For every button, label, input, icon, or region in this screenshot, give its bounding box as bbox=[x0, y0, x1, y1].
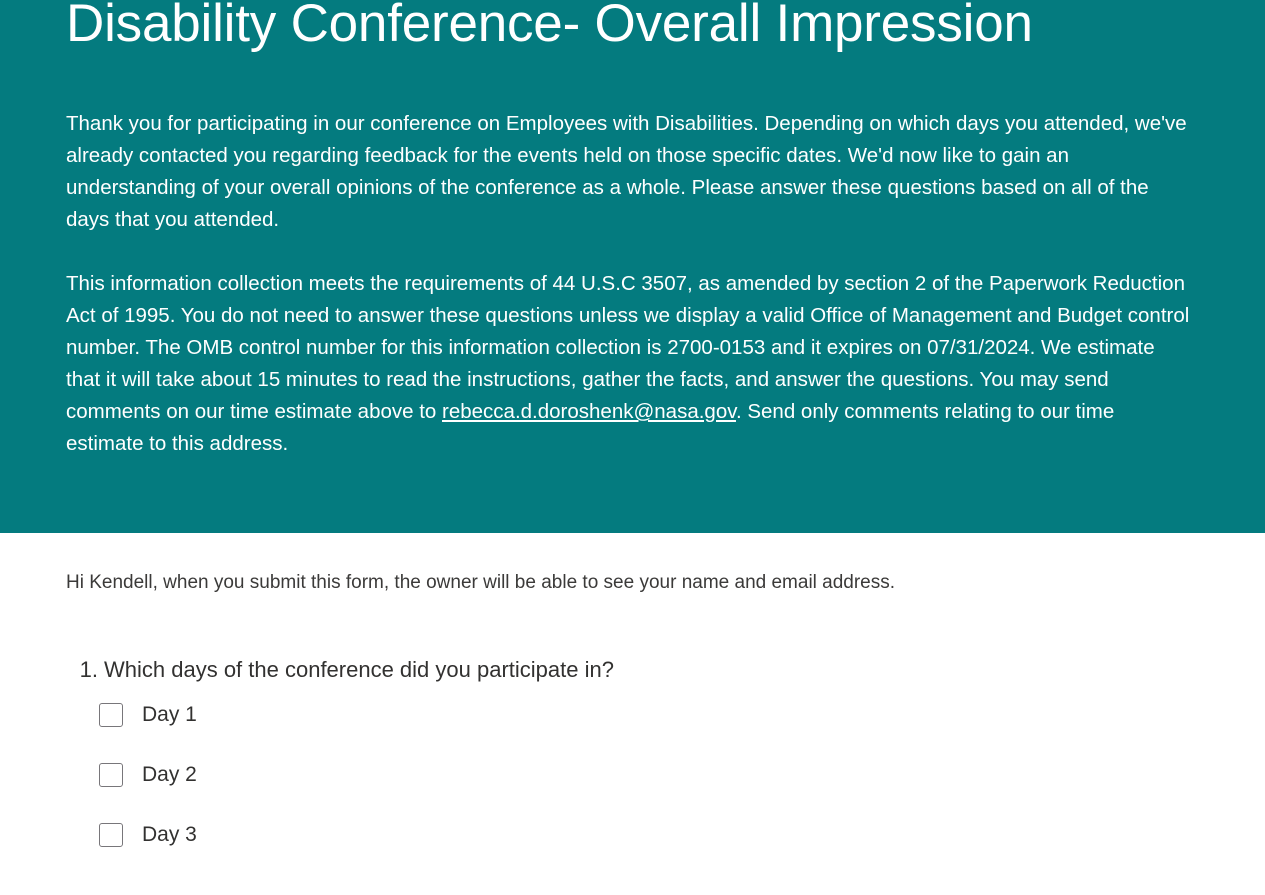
checkbox-icon[interactable] bbox=[99, 703, 123, 727]
description-paragraph-1: Thank you for participating in our confe… bbox=[66, 108, 1191, 236]
checkbox-label[interactable]: Day 1 bbox=[142, 702, 197, 728]
question-block-1: 1. Which days of the conference did you … bbox=[72, 655, 1152, 848]
question-heading-1: 1. Which days of the conference did you … bbox=[72, 655, 1152, 685]
checkbox-option-day-3[interactable]: Day 3 bbox=[99, 822, 1152, 848]
question-title: Which days of the conference did you par… bbox=[104, 655, 614, 685]
form-description: Thank you for participating in our confe… bbox=[66, 108, 1191, 460]
page-title: Disability Conference- Overall Impressio… bbox=[66, 0, 1033, 53]
description-paragraph-2: This information collection meets the re… bbox=[66, 268, 1191, 460]
question-number: 1. bbox=[72, 655, 104, 685]
form-header-banner: Disability Conference- Overall Impressio… bbox=[0, 0, 1265, 533]
contact-email-link[interactable]: rebecca.d.doroshenk@nasa.gov bbox=[442, 400, 736, 423]
privacy-note: Hi Kendell, when you submit this form, t… bbox=[66, 569, 895, 597]
checkbox-label[interactable]: Day 3 bbox=[142, 822, 197, 848]
form-body: Hi Kendell, when you submit this form, t… bbox=[0, 533, 1265, 895]
checkbox-option-day-1[interactable]: Day 1 bbox=[99, 702, 1152, 728]
checkbox-label[interactable]: Day 2 bbox=[142, 762, 197, 788]
checkbox-icon[interactable] bbox=[99, 763, 123, 787]
checkbox-icon[interactable] bbox=[99, 823, 123, 847]
checkbox-options-list: Day 1 Day 2 Day 3 bbox=[72, 702, 1152, 848]
checkbox-option-day-2[interactable]: Day 2 bbox=[99, 762, 1152, 788]
